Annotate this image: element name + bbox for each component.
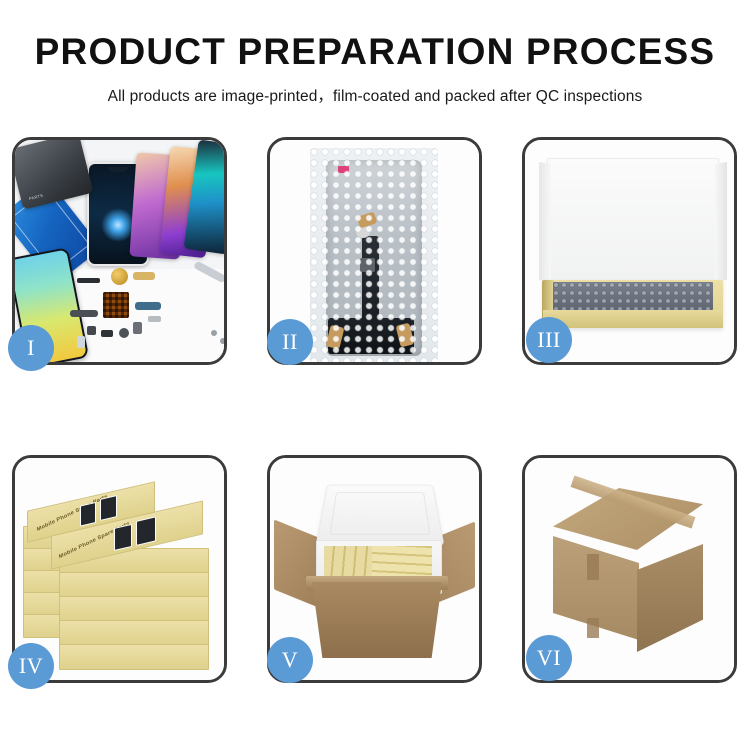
step-caption-1: Phone screens and spare parts	[12, 137, 13, 138]
step-panel-3: III Item placed in yellow inner box with…	[522, 137, 737, 365]
stacked-box	[59, 644, 209, 670]
step-badge-4: IV	[8, 643, 54, 689]
step-panel-4: Mobile Phone Spare Parts Mobile Phone S	[12, 455, 227, 683]
copper-coil-part	[111, 268, 128, 285]
box-front-lip	[543, 310, 723, 328]
step-badge-3: III	[526, 317, 572, 363]
step-badge-2: II	[267, 319, 313, 365]
repair-tool	[193, 260, 224, 283]
small-part-6	[148, 316, 161, 322]
steps-grid: PARTS I	[0, 137, 750, 682]
product-preparation-infographic: PRODUCT PREPARATION PROCESS All products…	[0, 0, 750, 750]
screw-1	[211, 330, 217, 336]
carton-side-face	[637, 544, 703, 652]
step-badge-6: VI	[526, 635, 572, 681]
carton-body	[312, 582, 442, 658]
phone-back-housing: PARTS	[15, 140, 93, 210]
foam-box-lid	[316, 485, 445, 546]
lcd-driver-chip	[360, 258, 375, 272]
stacked-box	[59, 596, 209, 622]
step-caption-6: Sealed shipping carton	[522, 455, 523, 456]
step-caption-3: Item placed in yellow inner box with foa…	[522, 137, 523, 138]
speaker-part	[77, 278, 100, 283]
stacked-boxes-photo: Mobile Phone Spare Parts Mobile Phone S	[15, 458, 224, 680]
step-panel-5: V Boxes loaded into foam-lined carton	[267, 455, 482, 683]
small-part-1	[87, 326, 96, 335]
gray-bubble-wrap-contents	[553, 282, 713, 310]
small-part-3	[119, 328, 129, 338]
box-stack: Mobile Phone Spare Parts Mobile Phone S	[23, 474, 223, 670]
page-title: PRODUCT PREPARATION PROCESS	[0, 0, 750, 72]
step-caption-4: Printed boxes stacked	[12, 455, 13, 456]
step-panel-2: II LCD screen sealed in bubble wrap	[267, 137, 482, 365]
stacked-box	[59, 572, 209, 598]
small-part-5	[77, 336, 85, 348]
small-part-2	[101, 330, 113, 337]
small-part-4	[133, 322, 142, 334]
step-caption-5: Boxes loaded into foam-lined carton	[267, 455, 268, 456]
header: PRODUCT PREPARATION PROCESS All products…	[0, 0, 750, 106]
flex-cable-b	[135, 302, 161, 310]
white-foam-lid	[547, 158, 719, 288]
flex-cable-c	[133, 272, 155, 280]
step-badge-5: V	[267, 637, 313, 683]
box-screen-art	[136, 516, 156, 546]
box-screen-art	[100, 495, 117, 521]
step-caption-2: LCD screen sealed in bubble wrap	[267, 137, 268, 138]
carton-tape-front-upper	[587, 554, 599, 580]
step-badge-1: I	[8, 325, 54, 371]
box-screen-art	[80, 502, 96, 527]
flex-cable-a	[70, 310, 98, 317]
step-panel-1: PARTS I	[12, 137, 227, 365]
stacked-box	[59, 620, 209, 646]
yellow-inner-box	[543, 280, 723, 328]
lcd-connector	[356, 226, 370, 238]
box-screen-art	[114, 524, 132, 551]
pink-qc-label	[338, 166, 349, 173]
lcd-flex-cable	[362, 236, 379, 340]
product-range-photo: PARTS	[15, 140, 224, 362]
screw-2	[220, 338, 224, 344]
chip-grid-part	[103, 292, 129, 318]
page-subtitle: All products are image-printed，film-coat…	[0, 72, 750, 106]
step-panel-6: VI Sealed shipping carton	[522, 455, 737, 683]
carton-tape-front-lower	[587, 618, 599, 638]
